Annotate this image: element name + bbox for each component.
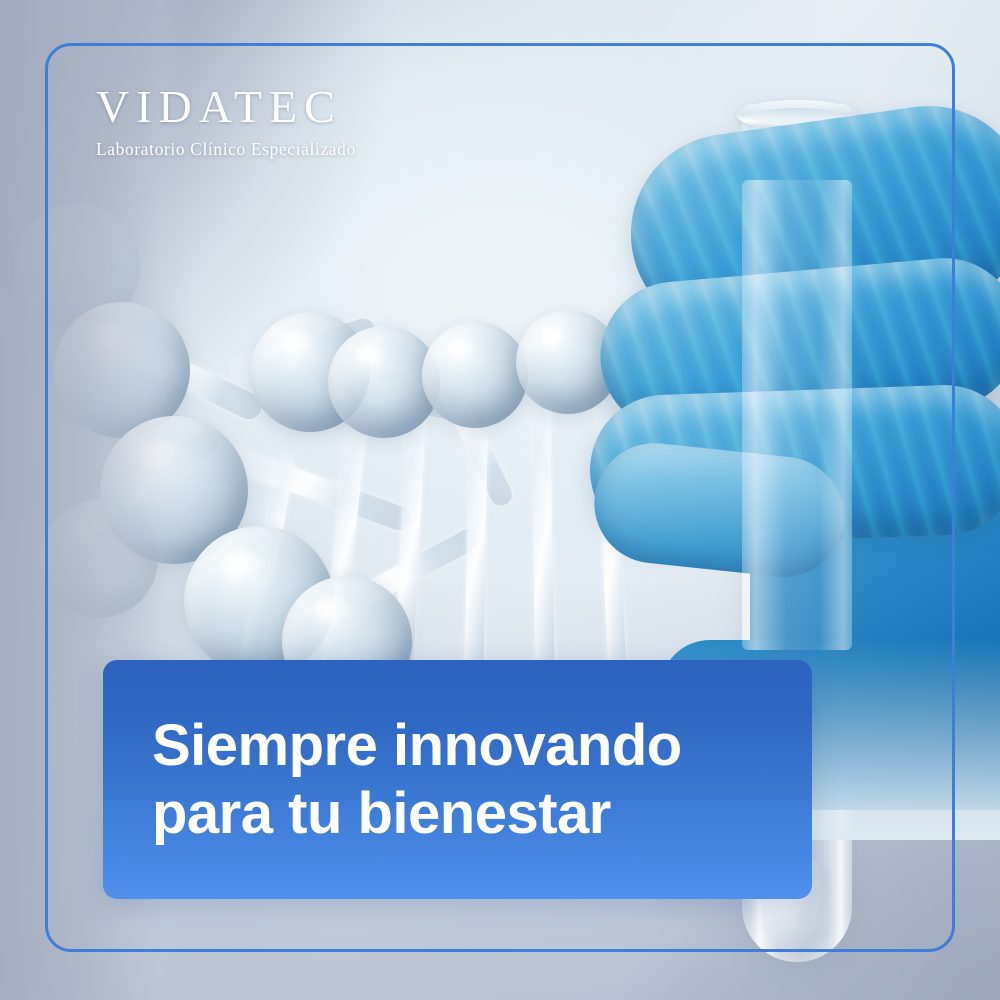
logo-tagline: Laboratorio Clínico Especializado (96, 141, 356, 159)
logo-wordmark: VIDATEC (96, 84, 356, 130)
headline-line-1: Siempre innovando (152, 712, 812, 780)
headline-line-2: para tu bienestar (152, 780, 812, 848)
test-tube-glass-overlay (742, 180, 852, 650)
molecule-sphere (422, 322, 528, 428)
poster-canvas: VIDATEC Laboratorio Clínico Especializad… (0, 0, 1000, 1000)
brand-logo: VIDATEC Laboratorio Clínico Especializad… (96, 84, 356, 159)
headline-banner: Siempre innovando para tu bienestar (103, 660, 812, 899)
